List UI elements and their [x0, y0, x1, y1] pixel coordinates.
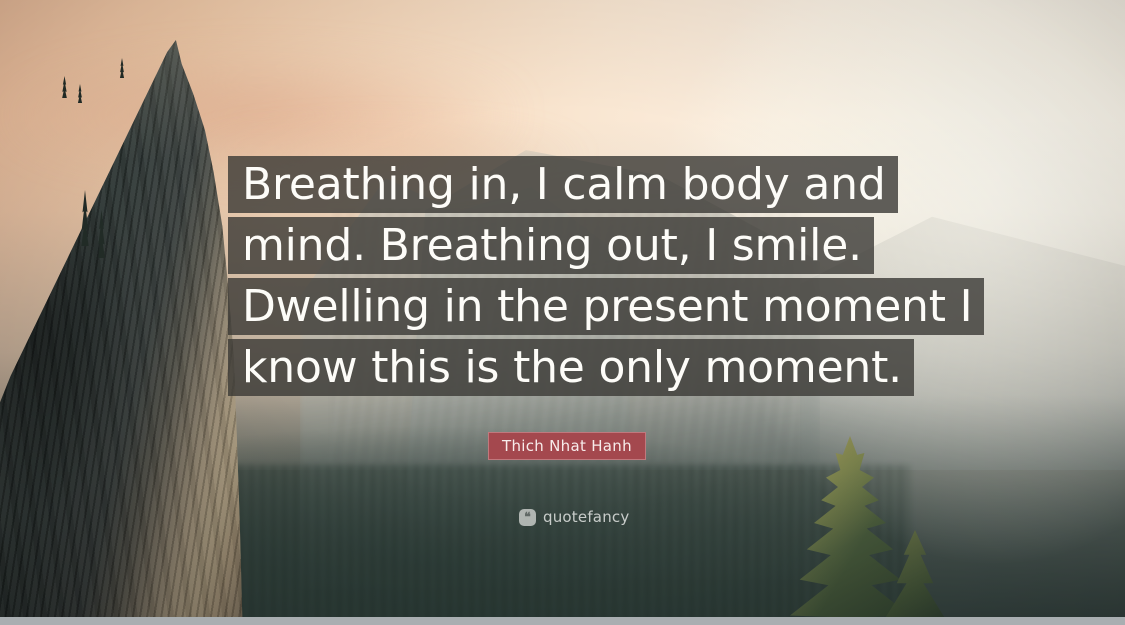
quotefancy-watermark[interactable]: ❝ quotefancy	[519, 508, 629, 526]
quote-wallpaper: Breathing in, I calm body and mind. Brea…	[0, 0, 1125, 625]
author-badge: Thich Nhat Hanh	[488, 432, 646, 460]
quote-line-3: Dwelling in the present moment I	[228, 278, 984, 335]
conifer-sunlight-highlight	[790, 436, 910, 625]
quote-line-1: Breathing in, I calm body and	[228, 156, 898, 213]
quote-mark-icon: ❝	[519, 509, 536, 526]
watermark-brand-label: quotefancy	[543, 508, 629, 526]
foreground-conifer	[790, 436, 910, 625]
quote-line-2: mind. Breathing out, I smile.	[228, 217, 874, 274]
quote-line-4: know this is the only moment.	[228, 339, 914, 396]
quote-text-block: Breathing in, I calm body and mind. Brea…	[228, 156, 918, 396]
bottom-bar	[0, 617, 1125, 625]
